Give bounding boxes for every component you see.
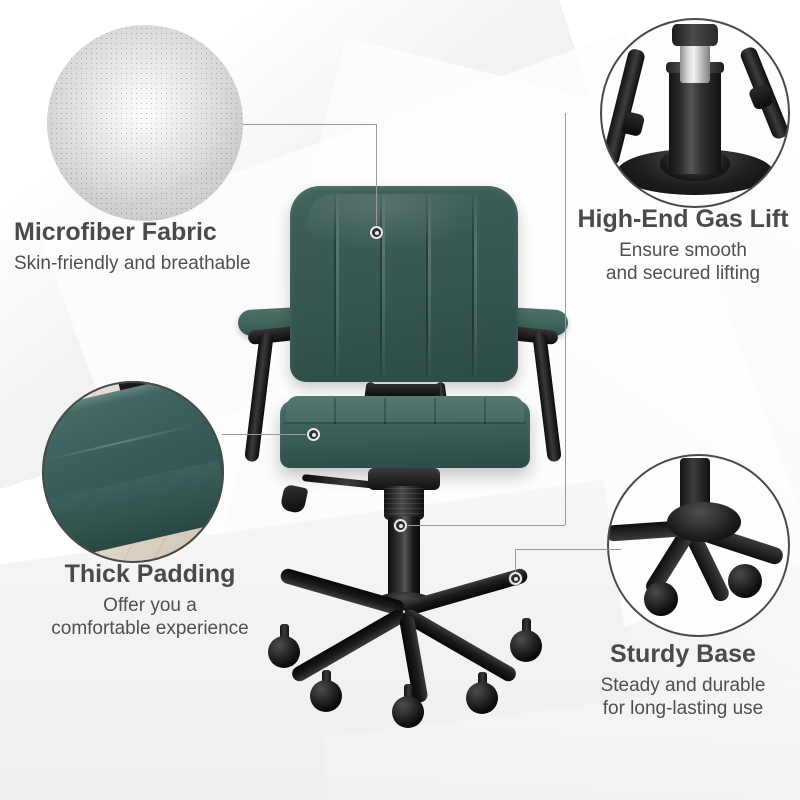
caster-right-rear[interactable] <box>510 630 542 662</box>
backrest-channel-3-hi <box>428 194 431 376</box>
feature-subtitle-sturdy-base-line-2: for long-lasting use <box>566 697 800 720</box>
detail-circle-sturdy-base-ring <box>607 454 790 637</box>
connector-thick-padding-horizontal <box>222 434 314 435</box>
feature-title-high-end-gas-lift: High-End Gas Lift <box>570 205 796 234</box>
feature-subtitle-thick-padding-line-2: comfortable experience <box>0 617 300 640</box>
backrest-mount-plate <box>366 384 440 396</box>
connector-gas-lift-vertical <box>565 113 566 525</box>
feature-subtitle-microfiber-fabric-line-1: Skin-friendly and breathable <box>14 252 251 275</box>
backrest-channel-2-hi <box>382 194 385 376</box>
product-infographic: Microfiber Fabric Skin-friendly and brea… <box>0 0 800 800</box>
height-adjustment-lever[interactable] <box>302 474 378 489</box>
detail-circle-thick-padding-ring <box>42 381 224 563</box>
feature-subtitle-high-end-gas-lift-line-2: and secured lifting <box>570 262 796 285</box>
backrest-channel-4-hi <box>474 194 477 376</box>
feature-subtitle-thick-padding-line-1: Offer you a <box>0 594 300 617</box>
armrest-post-right <box>532 332 562 463</box>
backrest-channel-1-hi <box>336 194 339 376</box>
seat-tuft-line-4 <box>484 398 486 424</box>
callout-marker-gas-lift <box>394 519 407 532</box>
seat-cushion-top <box>286 396 524 422</box>
connector-gas-lift-horizontal <box>406 525 565 526</box>
caster-center-front[interactable] <box>392 696 424 728</box>
seat-tuft-line-1 <box>334 398 336 424</box>
feature-title-sturdy-base: Sturdy Base <box>566 640 800 669</box>
connector-microfiber-horizontal <box>243 124 377 125</box>
seat-tuft-line-2 <box>384 398 386 424</box>
feature-subtitle-sturdy-base-line-1: Steady and durable <box>566 674 800 697</box>
connector-microfiber-vertical <box>376 124 377 232</box>
feature-title-microfiber-fabric: Microfiber Fabric <box>14 218 251 247</box>
feature-label-microfiber-fabric: Microfiber Fabric Skin-friendly and brea… <box>14 218 251 275</box>
callout-marker-microfiber <box>370 226 383 239</box>
base-leg-left-front <box>289 607 407 684</box>
callout-marker-sturdy-base <box>509 572 522 585</box>
detail-circle-gas-lift-ring <box>600 18 790 208</box>
caster-right-front[interactable] <box>466 682 498 714</box>
height-adjustment-lever-knob[interactable] <box>280 484 309 514</box>
feature-subtitle-high-end-gas-lift-line-1: Ensure smooth <box>570 239 796 262</box>
seat-tuft-line-h <box>284 422 526 424</box>
backrest-cushion <box>290 186 518 382</box>
caster-left-rear[interactable] <box>268 636 300 668</box>
feature-label-thick-padding: Thick Padding Offer you a comfortable ex… <box>0 560 300 640</box>
detail-circle-microfiber-fabric <box>47 25 243 221</box>
seat-tuft-line-3 <box>434 398 436 424</box>
feature-label-high-end-gas-lift: High-End Gas Lift Ensure smooth and secu… <box>570 205 796 285</box>
connector-sturdy-base-horizontal <box>515 549 621 550</box>
gas-lift-sleeve-ridges <box>384 488 424 518</box>
feature-title-thick-padding: Thick Padding <box>0 560 300 589</box>
caster-left-front[interactable] <box>310 680 342 712</box>
armrest-post-left <box>244 332 274 463</box>
feature-label-sturdy-base: Sturdy Base Steady and durable for long-… <box>566 640 800 720</box>
fabric-shading <box>47 25 243 221</box>
callout-marker-thick-padding <box>307 428 320 441</box>
